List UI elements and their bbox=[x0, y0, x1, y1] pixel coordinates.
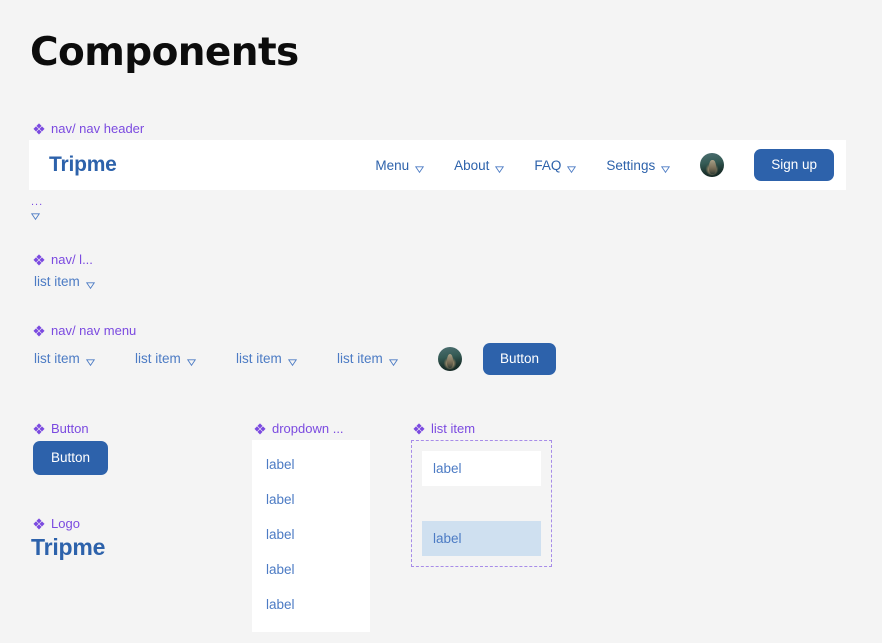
design-canvas: Components nav/ nav header Tripme Menu bbox=[0, 0, 882, 643]
sample-button[interactable]: Button bbox=[33, 441, 108, 475]
figma-component-icon bbox=[33, 518, 45, 530]
nav-link-menu[interactable]: Menu bbox=[375, 158, 424, 173]
chevron-down-icon bbox=[567, 162, 576, 171]
dropdown-item[interactable]: label bbox=[252, 482, 370, 517]
list-item-label: list item bbox=[337, 351, 383, 366]
component-label-text: nav/ nav menu bbox=[51, 323, 136, 339]
nav-link-label: Menu bbox=[375, 158, 409, 173]
list-item-variants-box: label label bbox=[411, 440, 552, 567]
page-title: Components bbox=[30, 30, 299, 75]
chevron-down-icon bbox=[86, 278, 95, 287]
sign-up-button[interactable]: Sign up bbox=[754, 149, 834, 181]
nav-menu-button[interactable]: Button bbox=[483, 343, 556, 375]
nav-menu-item-4[interactable]: list item bbox=[337, 351, 438, 366]
list-item-label: list item bbox=[135, 351, 181, 366]
chevron-down-icon bbox=[187, 355, 196, 364]
nav-link-faq[interactable]: FAQ bbox=[534, 158, 576, 173]
ellipsis-icon: ... bbox=[31, 198, 43, 206]
list-item-row-selected[interactable]: label bbox=[422, 521, 541, 556]
chevron-down-icon bbox=[288, 355, 297, 364]
figma-component-icon bbox=[33, 423, 45, 435]
nav-link-about[interactable]: About bbox=[454, 158, 504, 173]
figma-component-icon bbox=[33, 123, 45, 135]
avatar[interactable] bbox=[438, 347, 462, 371]
nav-menu-item-1[interactable]: list item bbox=[34, 351, 135, 366]
brand-logo[interactable]: Tripme bbox=[49, 153, 117, 177]
chevron-down-icon bbox=[389, 355, 398, 364]
list-item[interactable]: list item bbox=[34, 274, 95, 289]
component-label-text: Button bbox=[51, 421, 89, 437]
dropdown-item[interactable]: label bbox=[252, 447, 370, 482]
list-item-label: list item bbox=[236, 351, 282, 366]
dropdown-menu: label label label label label bbox=[252, 440, 370, 632]
component-label-text: dropdown ... bbox=[272, 421, 344, 437]
logo-sample[interactable]: Tripme bbox=[31, 534, 105, 561]
component-label-button: Button bbox=[33, 421, 89, 437]
figma-component-icon bbox=[413, 423, 425, 435]
component-label-logo: Logo bbox=[33, 516, 80, 532]
nav-menu-item-3[interactable]: list item bbox=[236, 351, 337, 366]
list-item-label: list item bbox=[34, 351, 80, 366]
component-label-nav-header: nav/ nav header bbox=[33, 121, 144, 137]
nav-menu-row: list item list item list item list item … bbox=[34, 343, 556, 375]
figma-component-icon bbox=[254, 423, 266, 435]
dropdown-item[interactable]: label bbox=[252, 517, 370, 552]
chevron-down-icon bbox=[495, 162, 504, 171]
component-label-nav-list-item: nav/ l... bbox=[33, 252, 93, 268]
nav-list-item-row: list item bbox=[34, 274, 95, 289]
dropdown-item[interactable]: label bbox=[252, 552, 370, 587]
chevron-down-icon bbox=[661, 162, 670, 171]
component-label-text: Logo bbox=[51, 516, 80, 532]
component-label-dropdown-menu: dropdown ... bbox=[254, 421, 344, 437]
component-label-text: nav/ l... bbox=[51, 252, 93, 268]
component-label-text: list item bbox=[431, 421, 475, 437]
dropdown-item[interactable]: label bbox=[252, 587, 370, 622]
nav-link-label: About bbox=[454, 158, 489, 173]
component-label-list-item: list item bbox=[413, 421, 475, 437]
nav-link-label: Settings bbox=[606, 158, 655, 173]
list-item-row-default[interactable]: label bbox=[422, 451, 541, 486]
nav-link-settings[interactable]: Settings bbox=[606, 158, 670, 173]
nav-menu-item-2[interactable]: list item bbox=[135, 351, 236, 366]
nav-header-bar: Tripme Menu About FAQ S bbox=[29, 140, 846, 190]
component-label-nav-menu: nav/ nav menu bbox=[33, 323, 136, 339]
figma-component-icon bbox=[33, 254, 45, 266]
avatar[interactable] bbox=[700, 153, 724, 177]
figma-component-icon bbox=[33, 325, 45, 337]
chevron-down-icon[interactable] bbox=[31, 208, 40, 217]
chevron-down-icon bbox=[415, 162, 424, 171]
chevron-down-icon bbox=[86, 355, 95, 364]
overflow-marker: ... bbox=[31, 198, 43, 216]
nav-links: Menu About FAQ Settings bbox=[375, 149, 834, 181]
list-item-label: list item bbox=[34, 274, 80, 289]
button-sample: Button bbox=[33, 441, 108, 475]
component-label-text: nav/ nav header bbox=[51, 121, 144, 137]
nav-link-label: FAQ bbox=[534, 158, 561, 173]
